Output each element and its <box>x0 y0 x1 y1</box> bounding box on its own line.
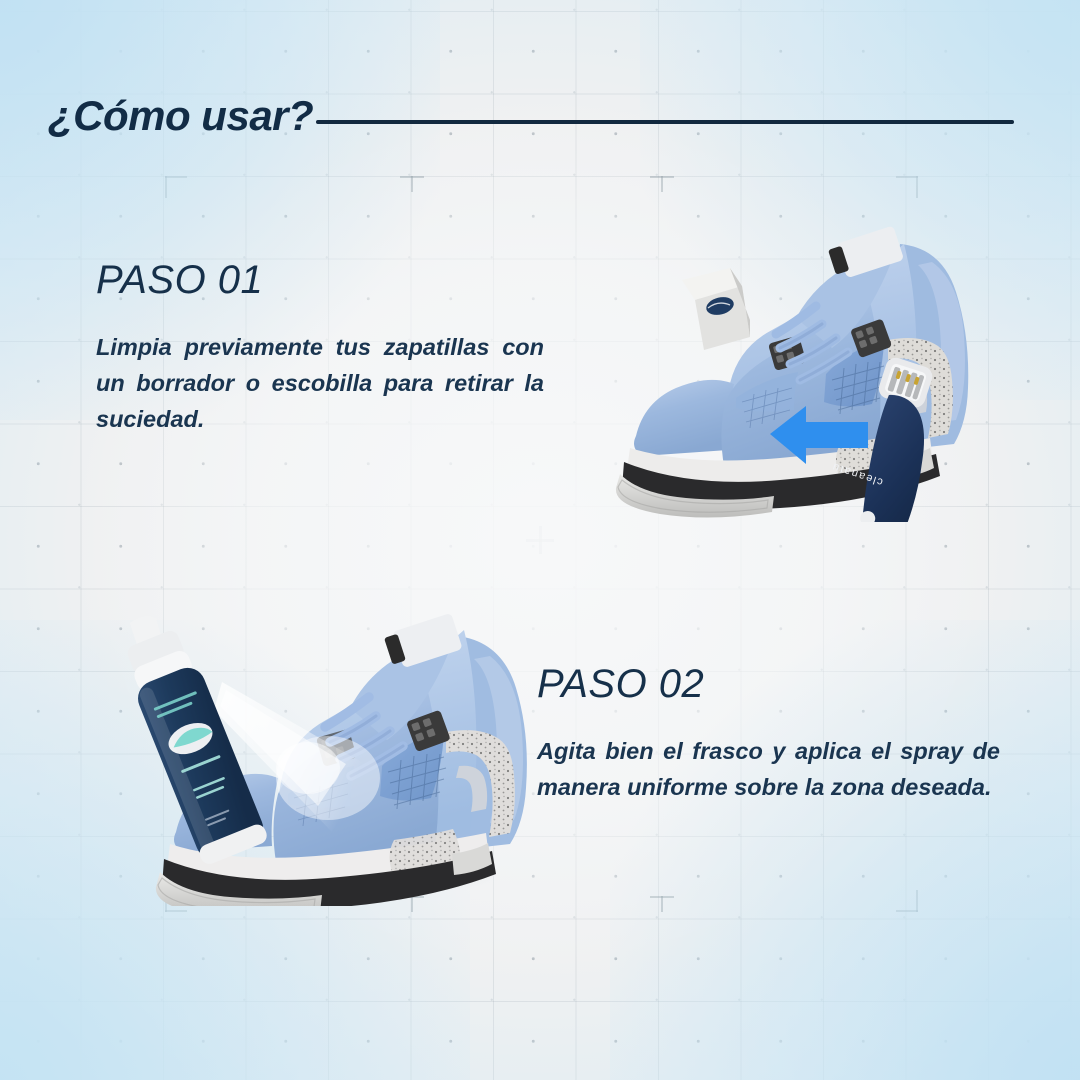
step-02-block: PASO 02 Agita bien el frasco y aplica el… <box>537 662 1002 805</box>
step-01-illustration: cleanatu <box>600 222 1000 522</box>
step-02-body: Agita bien el frasco y aplica el spray d… <box>537 733 1000 805</box>
sneaker-spray-graphic <box>110 606 540 906</box>
header-divider <box>316 120 1014 124</box>
header: ¿Cómo usar? <box>48 96 1020 152</box>
poster-canvas: ¿Cómo usar? PASO 01 Limpia previamente t… <box>0 0 1080 1080</box>
step-01-block: PASO 01 Limpia previamente tus zapatilla… <box>96 258 548 438</box>
sneaker-brush-graphic: cleanatu <box>600 222 1000 522</box>
eraser-block <box>682 268 750 350</box>
step-01-title: PASO 01 <box>96 258 548 303</box>
page-title: ¿Cómo usar? <box>48 92 313 140</box>
step-02-illustration <box>110 606 540 906</box>
step-01-body: Limpia previamente tus zapatillas con un… <box>96 329 544 438</box>
step-02-title: PASO 02 <box>537 662 1002 707</box>
